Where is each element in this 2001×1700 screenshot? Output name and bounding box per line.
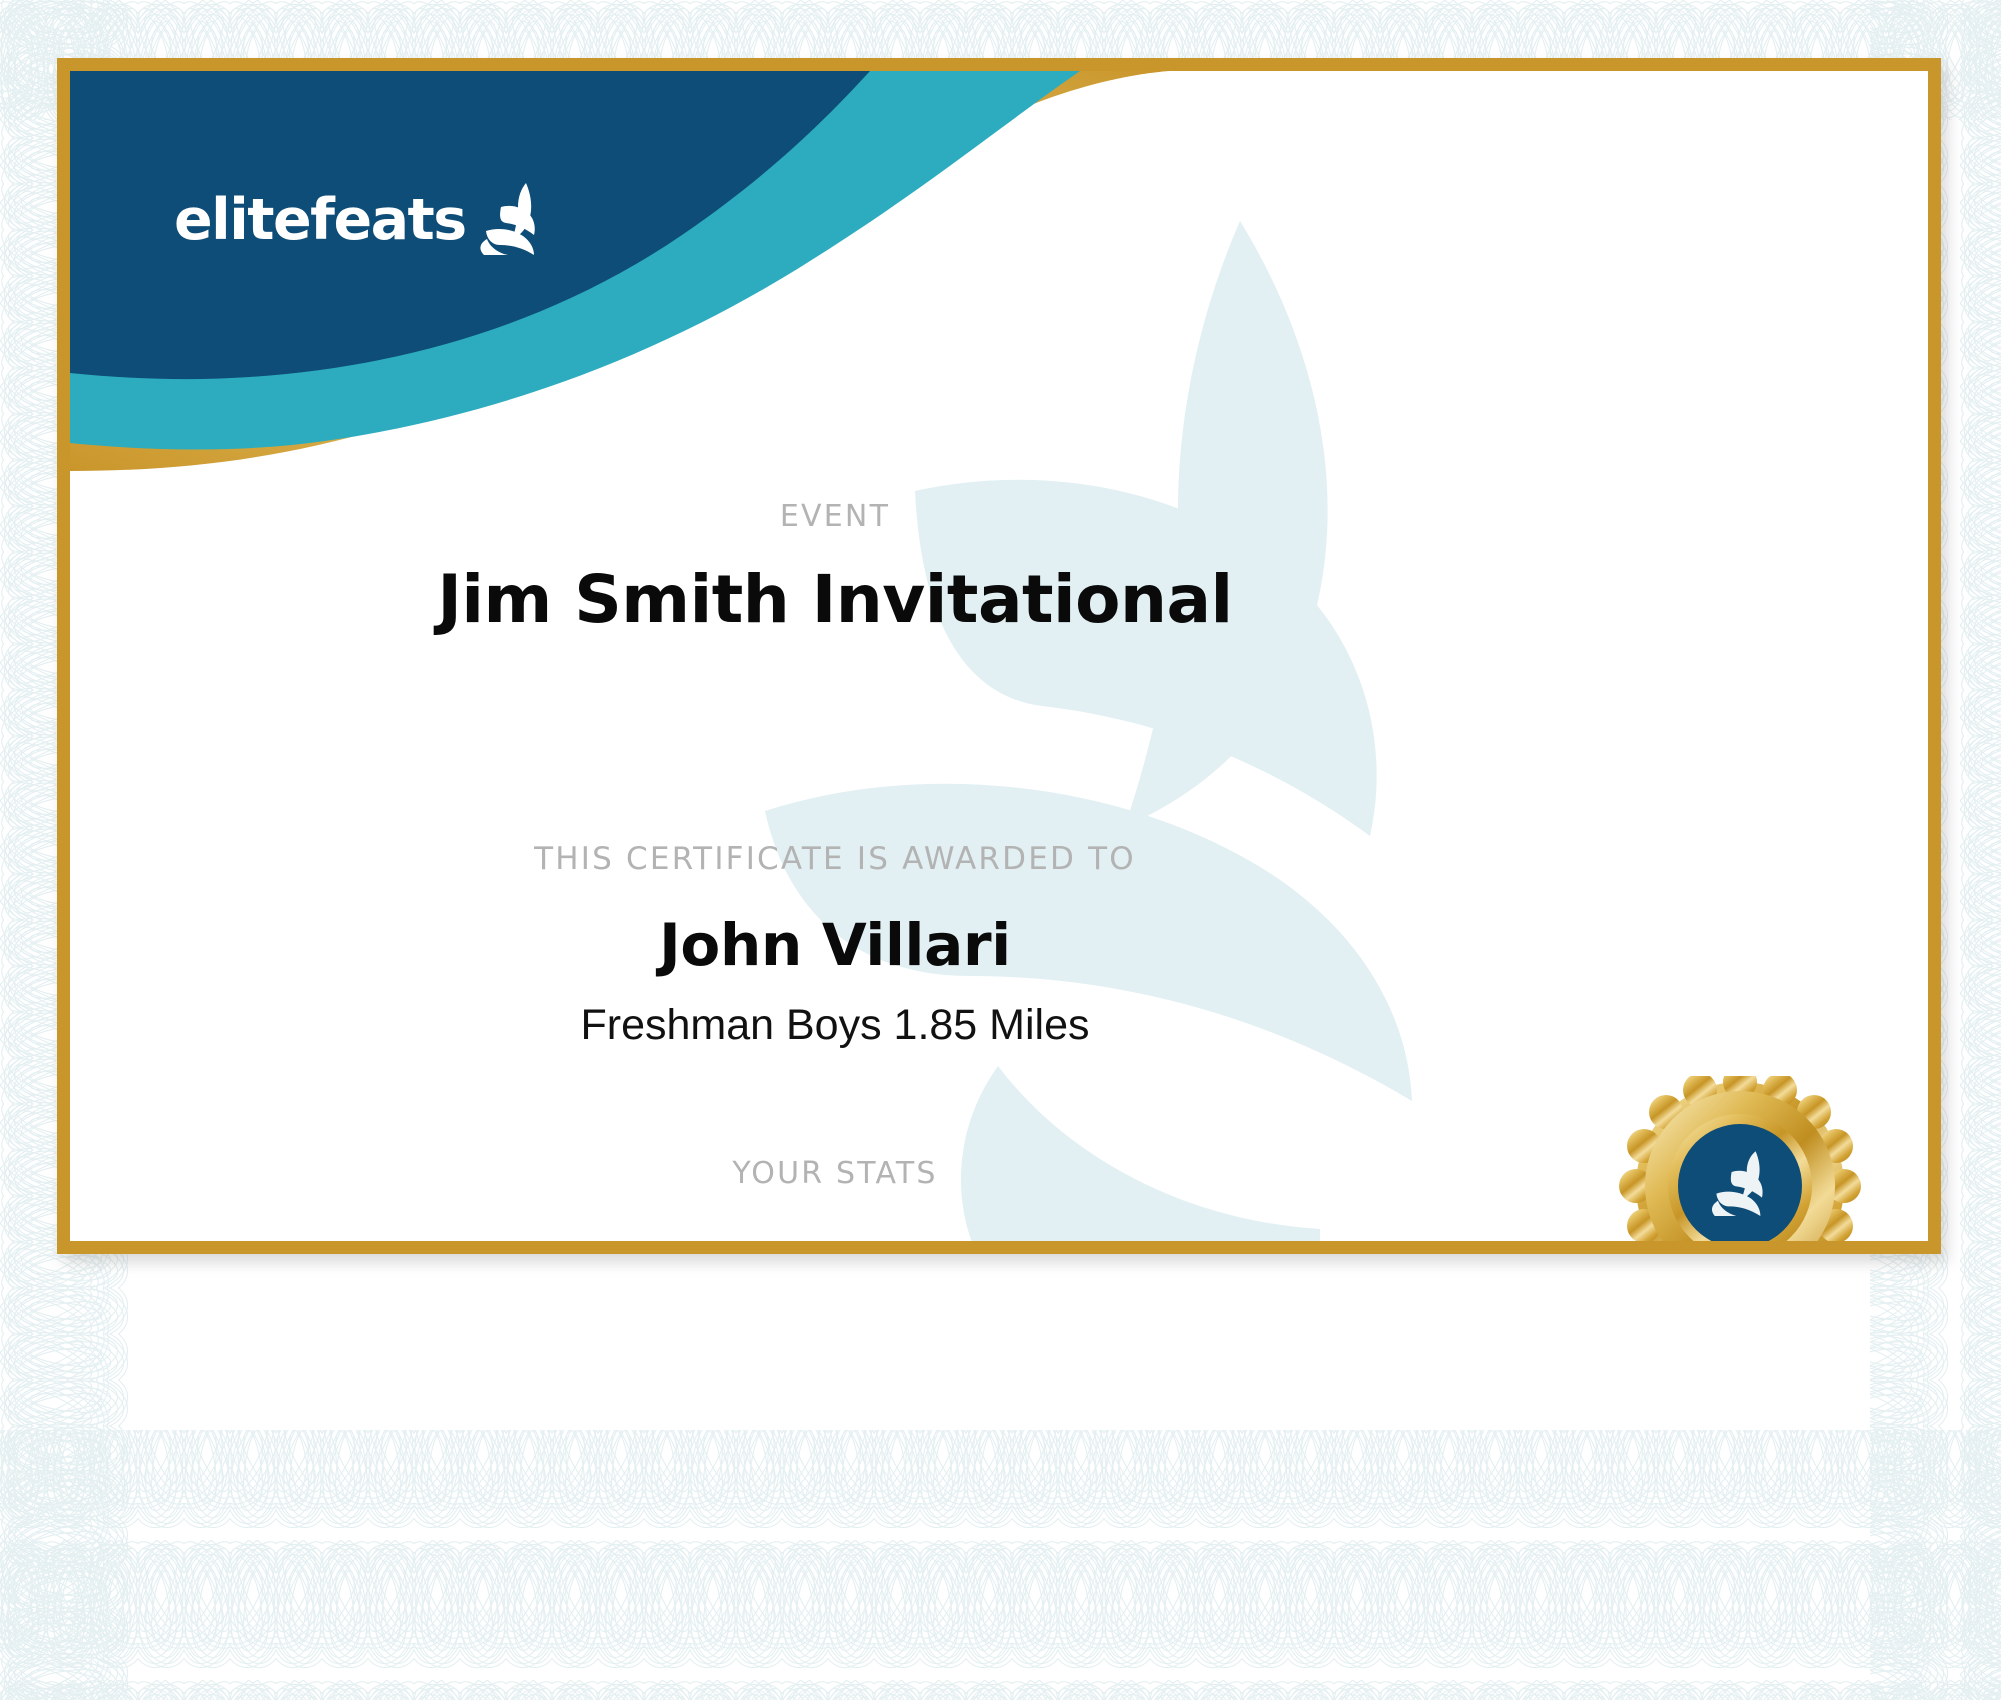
event-title: Jim Smith Invitational <box>70 561 1600 638</box>
event-label: EVENT <box>70 499 1600 534</box>
certificate-gold-frame: elitefeats EVENT Jim Smith Invitational … <box>57 58 1941 1254</box>
your-stats-label: YOUR STATS <box>70 1156 1600 1191</box>
recipient-division: Freshman Boys 1.85 Miles <box>70 1001 1600 1050</box>
finisher-medal-badge: 2025 <box>1590 1076 1890 1241</box>
certificate-page: elitefeats EVENT Jim Smith Invitational … <box>0 0 2001 1700</box>
recipient-name: John Villari <box>70 911 1600 979</box>
awarded-to-label: THIS CERTIFICATE IS AWARDED TO <box>70 841 1600 877</box>
badge-medallion <box>1619 1076 1861 1241</box>
